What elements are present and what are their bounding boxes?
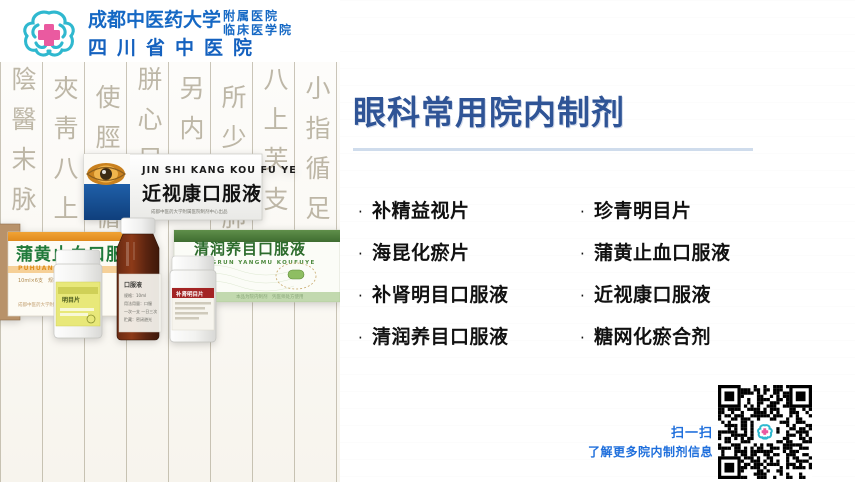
bullet-icon: · — [580, 191, 594, 233]
svg-text:补肾明目片: 补肾明目片 — [175, 290, 204, 298]
hospital-header: 成都中医药大学 附属医院 临床医学院 四川省中医院 — [0, 0, 340, 62]
bullet-icon: · — [358, 233, 372, 275]
bullet-icon: · — [580, 233, 594, 275]
list-item-label: 清润养目口服液 — [372, 316, 509, 358]
list-item: · 近视康口服液 — [580, 274, 830, 316]
svg-text:一次一支 一日三次: 一次一支 一日三次 — [124, 308, 157, 314]
page-title: 眼科常用院内制剂 — [353, 86, 625, 134]
svg-text:贮藏：密闭避光: 贮藏：密闭避光 — [124, 316, 152, 322]
preparation-list: · 补精益视片 · 海昆化瘀片 · 补肾明目口服液 · 清润养目口服液 — [358, 190, 838, 358]
list-item: · 珍青明目片 — [580, 190, 830, 232]
svg-text:用法用量：口服: 用法用量：口服 — [124, 300, 152, 306]
list-item: · 补肾明目口服液 — [358, 274, 580, 316]
list-item-label: 蒲黄止血口服液 — [594, 232, 731, 274]
list-item-label: 海昆化瘀片 — [372, 232, 470, 274]
university-name: 成都中医药大学 — [88, 9, 221, 31]
clinical-college-label: 临床医学院 — [223, 23, 293, 37]
hospital-name: 四川省中医院 — [88, 36, 262, 60]
svg-text:明目片: 明目片 — [62, 296, 80, 304]
svg-text:JIN SHI KANG KOU FU YE: JIN SHI KANG KOU FU YE — [141, 165, 297, 176]
list-item-label: 补肾明目口服液 — [372, 274, 509, 316]
product-collage-image: JIN SHI KANG KOU FU YE 近视康口服液 成都中医药大学附属医… — [0, 146, 340, 346]
svg-text:近视康口服液: 近视康口服液 — [142, 182, 262, 205]
bullet-icon: · — [580, 275, 594, 317]
preparation-column-right: · 珍青明目片 · 蒲黄止血口服液 · 近视康口服液 · 糖网化瘀合剂 — [580, 190, 830, 358]
list-item: · 糖网化瘀合剂 — [580, 316, 830, 358]
list-item: · 清润养目口服液 — [358, 316, 580, 358]
list-item: · 补精益视片 — [358, 190, 580, 232]
list-item: · 海昆化瘀片 — [358, 232, 580, 274]
qr-code-icon[interactable] — [718, 385, 812, 479]
bullet-icon: · — [358, 191, 372, 233]
svg-text:口服液: 口服液 — [124, 281, 143, 289]
bullet-icon: · — [358, 317, 372, 359]
svg-text:本品为院内制剂 凭医师处方使用: 本品为院内制剂 凭医师处方使用 — [236, 293, 304, 300]
title-divider — [353, 148, 753, 151]
product-photo-panel: 陰 醫 末 脉夾 靑 八 上使 脛 中 循 八胼 心 足 上另 内 廉 三所 少… — [0, 60, 340, 482]
list-item-label: 糖网化瘀合剂 — [594, 316, 711, 358]
svg-text:清润养目口服液: 清润养目口服液 — [194, 240, 306, 258]
svg-text:规格：10ml: 规格：10ml — [124, 292, 146, 298]
list-item-label: 珍青明目片 — [594, 190, 692, 232]
bullet-icon: · — [358, 275, 372, 317]
hospital-flower-cross-logo-icon — [16, 7, 82, 59]
bullet-icon: · — [580, 317, 594, 359]
list-item-label: 近视康口服液 — [594, 274, 711, 316]
list-item-label: 补精益视片 — [372, 190, 470, 232]
preparation-column-left: · 补精益视片 · 海昆化瘀片 · 补肾明目口服液 · 清润养目口服液 — [358, 190, 580, 358]
header-top-line: 成都中医药大学 附属医院 临床医学院 — [88, 9, 293, 37]
svg-text:成都中医药大学附属医院制剂中心出品: 成都中医药大学附属医院制剂中心出品 — [151, 208, 228, 215]
list-item: · 蒲黄止血口服液 — [580, 232, 830, 274]
affiliate-hospital-label: 附属医院 — [223, 9, 293, 23]
slide-root: 陰 醫 末 脉夾 靑 八 上使 脛 中 循 八胼 心 足 上另 内 廉 三所 少… — [0, 0, 855, 482]
